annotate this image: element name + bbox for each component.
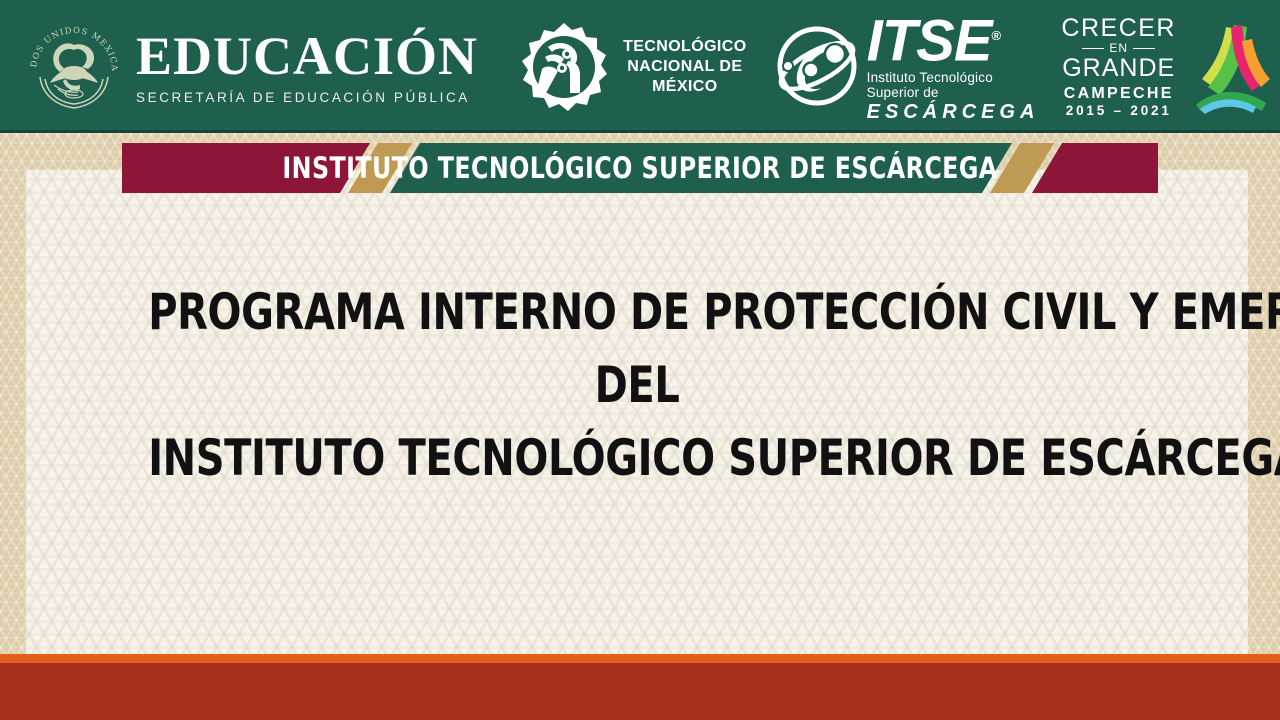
itse-city: ESCÁRCEGA	[867, 101, 1040, 124]
ceg-line1: CRECER	[1061, 15, 1176, 41]
title-line-3: INSTITUTO TECNOLÓGICO SUPERIOR DE ESCÁRC…	[148, 422, 1126, 495]
banner-label: INSTITUTO TECNOLÓGICO SUPERIOR DE ESCÁRC…	[115, 143, 1165, 193]
sep-subtitle: SECRETARÍA DE EDUCACIÓN PÚBLICA	[136, 90, 478, 105]
itse-long-name: Instituto Tecnológico Superior de	[867, 70, 1040, 100]
svg-text:ESTADOS UNIDOS MEXICANOS: ESTADOS UNIDOS MEXICANOS	[22, 15, 120, 72]
sep-title: EDUCACIÓN	[136, 29, 478, 83]
sep-wordmark: EDUCACIÓN SECRETARÍA DE EDUCACIÓN PÚBLIC…	[136, 29, 478, 105]
tecnm-logo: TECNOLÓGICO NACIONAL DE MÉXICO	[518, 21, 751, 113]
tecnm-line2: NACIONAL DE MÉXICO	[619, 57, 751, 97]
sep-logo: ESTADOS UNIDOS MEXICANOS	[22, 15, 478, 119]
title-slide: ESTADOS UNIDOS MEXICANOS	[0, 0, 1280, 720]
title-line-1: PROGRAMA INTERNO DE PROTECCIÓN CIVIL Y E…	[148, 276, 1126, 349]
itse-acronym-text: ITSE	[867, 9, 992, 74]
tecnm-line1: TECNOLÓGICO	[619, 37, 751, 57]
itse-registered-mark: ®	[992, 28, 1001, 43]
ceg-state: CAMPECHE	[1061, 85, 1176, 103]
institute-name-banner: INSTITUTO TECNOLÓGICO SUPERIOR DE ESCÁRC…	[0, 143, 1280, 193]
institutional-header: ESTADOS UNIDOS MEXICANOS	[0, 0, 1280, 133]
itse-orbit-atom-icon	[773, 22, 861, 110]
ceg-period: 2015 – 2021	[1061, 103, 1176, 118]
crecer-en-grande-logo: CRECER EN GRANDE CAMPECHE 2015 – 2021	[1061, 15, 1280, 118]
page-title: PROGRAMA INTERNO DE PROTECCIÓN CIVIL Y E…	[26, 276, 1248, 495]
mexican-coat-of-arms-icon: ESTADOS UNIDOS MEXICANOS	[22, 15, 126, 119]
ceg-line2: GRANDE	[1061, 55, 1176, 82]
crecer-en-grande-wordmark: CRECER EN GRANDE CAMPECHE 2015 – 2021	[1061, 15, 1176, 118]
bottom-rust-bar	[0, 663, 1280, 720]
tecnm-wordmark: TECNOLÓGICO NACIONAL DE MÉXICO	[619, 37, 751, 97]
itse-logo: ITSE® Instituto Tecnológico Superior de …	[773, 9, 1040, 123]
itse-wordmark: ITSE® Instituto Tecnológico Superior de …	[867, 9, 1040, 123]
ceg-line-mid: EN	[1061, 41, 1176, 55]
title-line-2: DEL	[148, 349, 1126, 422]
bottom-orange-stripe	[0, 654, 1280, 663]
itse-acronym: ITSE®	[867, 9, 1040, 68]
campeche-ribbon-icon	[1182, 17, 1280, 117]
tecnm-gear-aztec-icon	[518, 21, 610, 113]
ceg-line-mid-text: EN	[1109, 41, 1128, 55]
